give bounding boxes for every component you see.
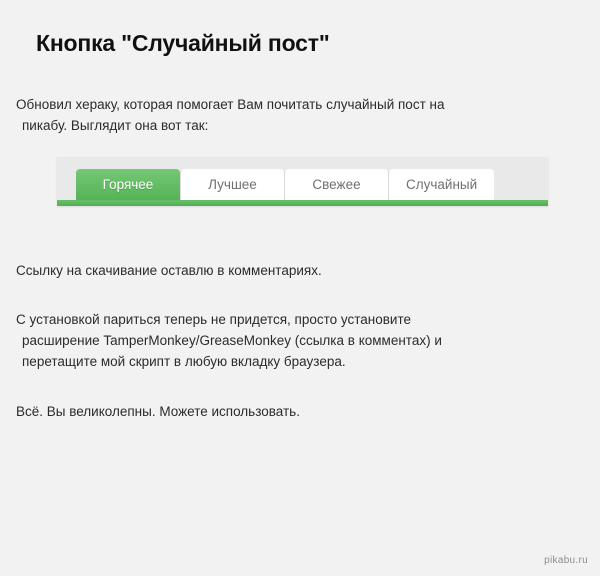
tab-best-label: Лучшее (208, 177, 257, 192)
instructions-line-1: С установкой париться теперь не придется… (16, 309, 442, 330)
tab-bar-screenshot: Горячее Лучшее Свежее Случайный (57, 157, 548, 206)
intro-line-1: Обновил херaку, которая помогает Вам поч… (16, 94, 444, 115)
tab-row: Горячее Лучшее Свежее Случайный (76, 169, 494, 200)
instructions-line-3: перетащите мой скрипт в любую вкладку бр… (16, 351, 442, 372)
site-watermark: pikabu.ru (544, 555, 588, 566)
intro-paragraph: Обновил херaку, которая помогает Вам поч… (16, 94, 444, 136)
intro-line-2: пикабу. Выглядит она вот так: (16, 115, 444, 136)
post-page: Кнопка "Случайный пост" Обновил херaку, … (0, 0, 600, 576)
instructions-paragraph: С установкой париться теперь не придется… (16, 309, 442, 372)
tab-random[interactable]: Случайный (388, 169, 494, 200)
tab-hot-label: Горячее (103, 177, 154, 192)
link-note-line-1: Ссылку на скачивание оставлю в комментар… (16, 260, 322, 281)
closing-paragraph: Всё. Вы великолепны. Можете использовать… (16, 401, 300, 422)
tab-fresh[interactable]: Свежее (284, 169, 388, 200)
page-title: Кнопка "Случайный пост" (36, 30, 330, 57)
tab-hot[interactable]: Горячее (76, 169, 180, 200)
instructions-line-2: расширение TamperMonkey/GreaseMonkey (сс… (16, 330, 442, 351)
tab-fresh-label: Свежее (312, 177, 360, 192)
closing-line-1: Всё. Вы великолепны. Можете использовать… (16, 401, 300, 422)
link-note-paragraph: Ссылку на скачивание оставлю в комментар… (16, 260, 322, 281)
tab-random-label: Случайный (406, 177, 477, 192)
tab-best[interactable]: Лучшее (180, 169, 284, 200)
tab-bar-accent-underline (57, 200, 548, 206)
